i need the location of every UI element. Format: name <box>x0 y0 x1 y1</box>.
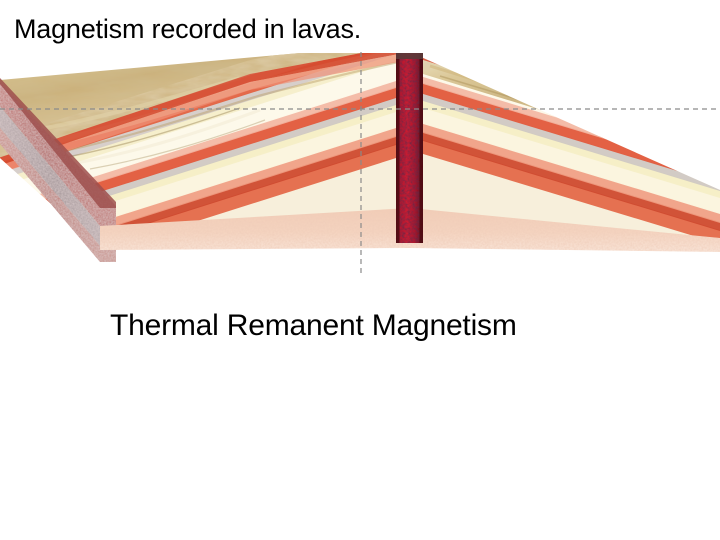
mid-ocean-ridge-figure <box>0 40 720 290</box>
magma-dike <box>396 53 423 243</box>
figure-caption: Thermal Remanent Magnetism <box>110 308 517 344</box>
slide-canvas: Magnetism recorded in lavas. <box>0 0 720 540</box>
block-diagram-svg <box>0 40 720 290</box>
